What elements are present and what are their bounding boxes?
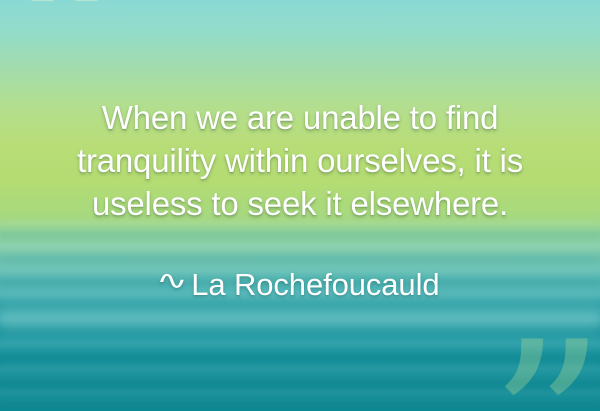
quote-line-3: useless to seek it elsewhere. [18,182,582,225]
quote-line-1: When we are unable to find [18,96,582,139]
water-sheen-highlight [0,300,600,340]
quote-image-card: “ ” When we are unable to find tranquili… [0,0,600,411]
quote-attribution: ∿La Rochefoucauld [18,225,582,304]
quote-line-2: tranquility within ourselves, it is [18,139,582,182]
quote-content: When we are unable to find tranquility w… [0,96,600,304]
quote-text: When we are unable to find tranquility w… [18,96,582,225]
author-name: La Rochefoucauld [191,267,439,302]
swash-ornament-icon: ∿ [156,262,187,300]
